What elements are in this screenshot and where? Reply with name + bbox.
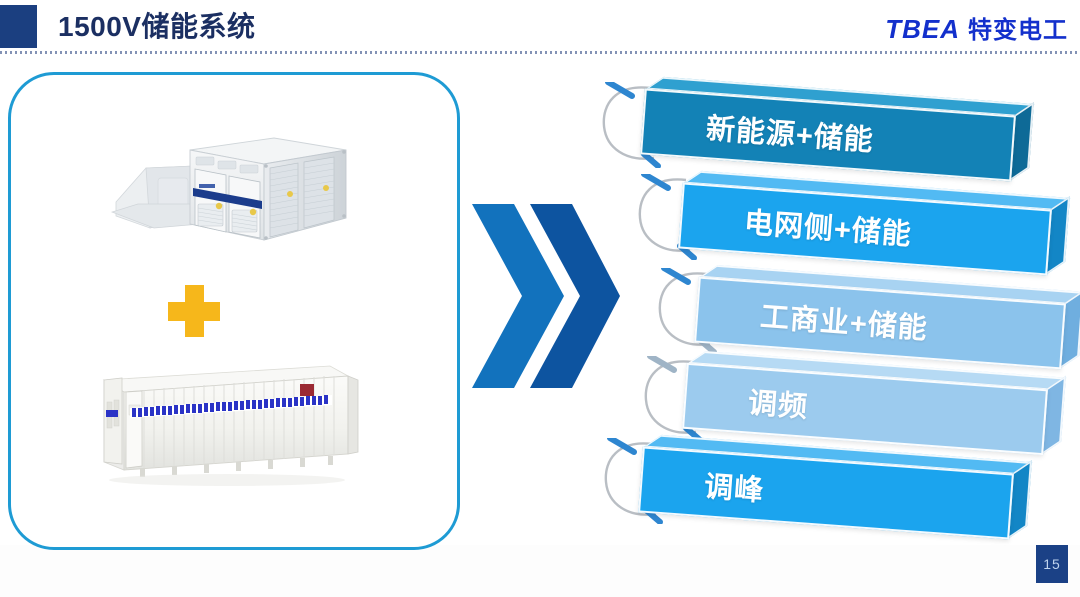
brand-logo: TBEA 特变电工 xyxy=(885,10,1068,45)
brand-logo-latin: TBEA xyxy=(885,14,960,45)
battery-container-image xyxy=(62,358,362,498)
page-number-badge: 15 xyxy=(1036,545,1068,583)
application-scenarios-chart: 新能源+储能 电网侧+储能 工商业+储能 调频 调峰 xyxy=(596,78,1080,570)
plus-icon xyxy=(168,285,220,337)
scenario-bar-label-2: 工商业+储能 xyxy=(697,289,929,348)
brand-logo-chinese: 特变电工 xyxy=(968,10,1068,45)
header-divider xyxy=(0,51,1080,54)
scenario-bar-peak-shaving[interactable]: 调峰 xyxy=(638,446,1014,539)
scenario-bar-grid-side[interactable]: 电网侧+储能 xyxy=(678,183,1052,276)
scenario-bar-new-energy[interactable]: 新能源+储能 xyxy=(640,88,1016,181)
scenario-bar-label-4: 调峰 xyxy=(641,459,766,510)
scenario-bar-label-1: 电网侧+储能 xyxy=(681,195,913,254)
slide-header: 1500V储能系统 TBEA 特变电工 xyxy=(0,0,1080,54)
scenario-bar-label-0: 新能源+储能 xyxy=(643,101,875,160)
header-accent-square xyxy=(0,5,37,48)
pcs-skid-image xyxy=(98,120,358,265)
scenario-bar-label-3: 调频 xyxy=(685,375,810,426)
page-title: 1500V储能系统 xyxy=(58,8,255,46)
